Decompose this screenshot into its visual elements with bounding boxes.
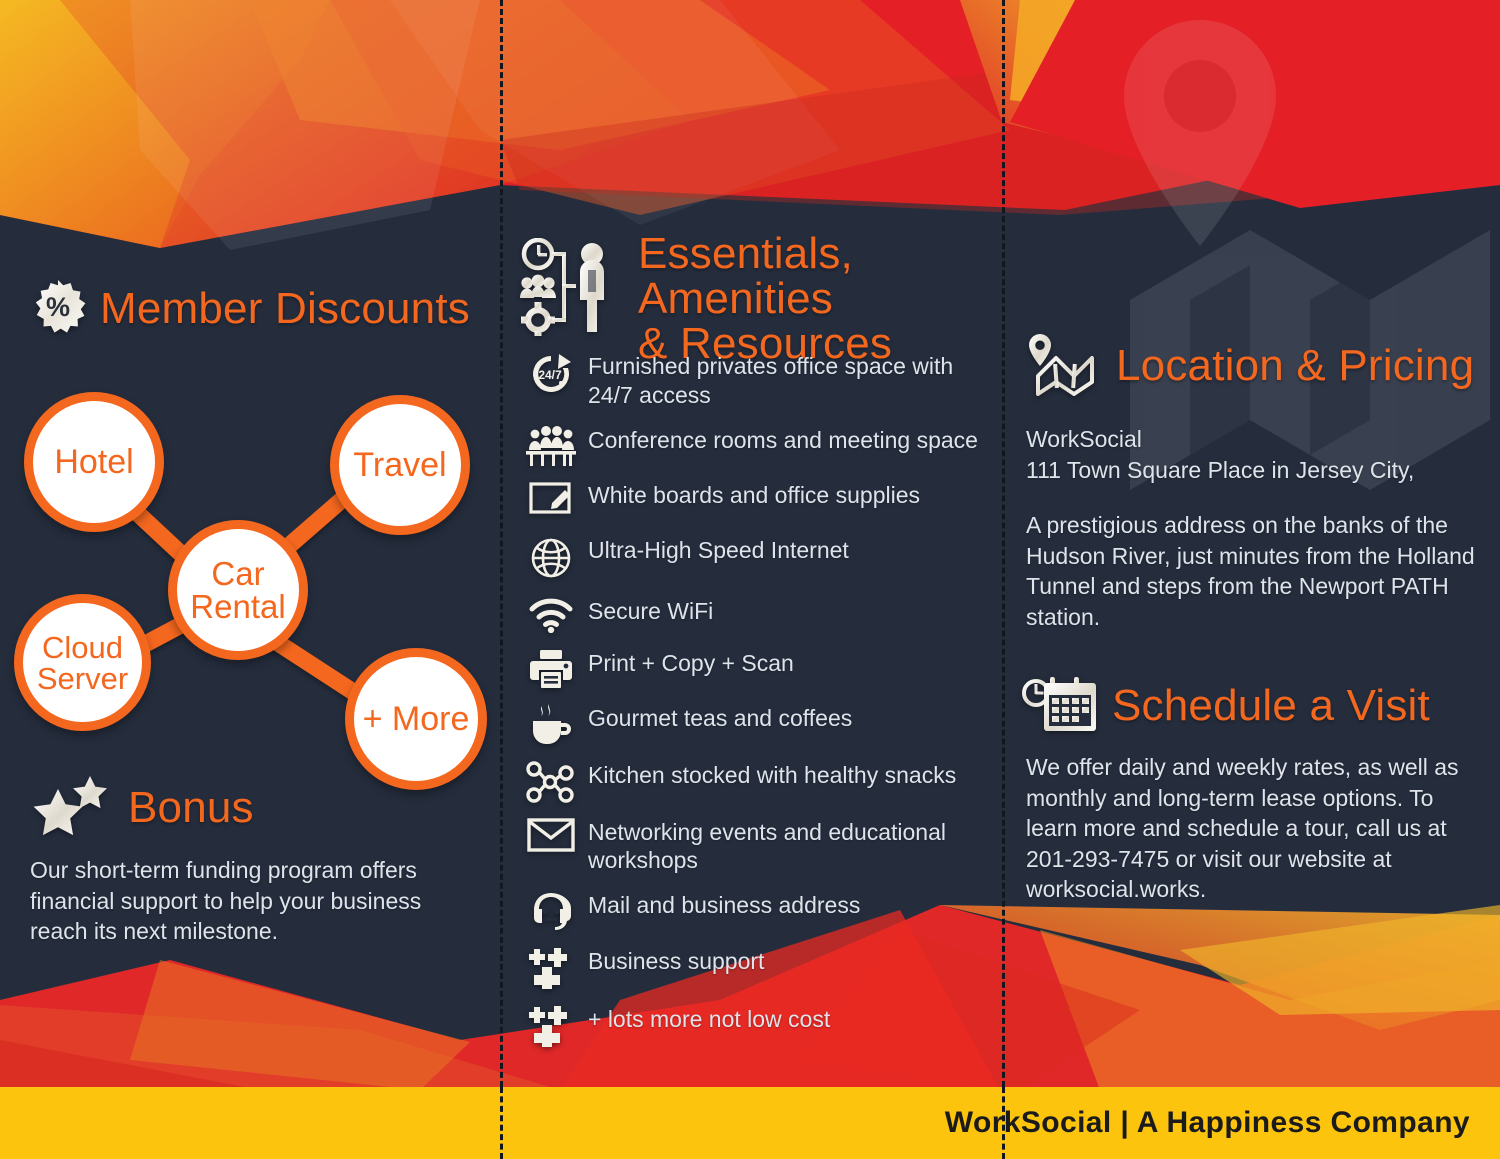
amenity-item: Gourmet teas and coffees	[522, 704, 992, 746]
amenity-label: Kitchen stocked with healthy snacks	[580, 761, 956, 790]
location-heading: Location & Pricing	[1022, 332, 1474, 401]
amenity-label: + lots more not low cost	[580, 1005, 830, 1034]
amenity-item: Networking events and educational worksh…	[522, 818, 992, 876]
wifi-icon	[522, 597, 580, 633]
amenity-item: Business support	[522, 947, 992, 989]
amenity-label: White boards and office supplies	[580, 481, 920, 510]
amenity-label: Mail and business address	[580, 891, 860, 920]
org-chart-people-icon	[518, 238, 618, 341]
bonus-heading: Bonus	[32, 775, 254, 842]
discount-node-cloud-server[interactable]: Cloud Server	[14, 594, 151, 731]
two-stars-icon	[32, 775, 114, 842]
globe-icon	[522, 536, 580, 580]
discount-node-more[interactable]: + More	[345, 648, 487, 790]
map-pin-map-icon	[1022, 332, 1102, 401]
schedule-title: Schedule a Visit	[1112, 684, 1430, 729]
amenity-label: Networking events and educational worksh…	[580, 818, 992, 876]
middle-panel: Essentials, Amenities & Resources 24/7 F…	[502, 0, 1002, 1159]
whiteboard-icon	[522, 481, 580, 519]
24-7-clock-icon: 24/7	[522, 352, 580, 396]
svg-text:%: %	[46, 292, 70, 322]
amenity-label: Furnished privates office space with 24/…	[580, 352, 992, 410]
location-body: A prestigious address on the banks of th…	[1026, 510, 1478, 632]
fold-line-right	[1002, 0, 1005, 1159]
schedule-heading: Schedule a Visit	[1022, 675, 1430, 738]
amenity-item: Secure WiFi	[522, 597, 992, 633]
calendar-clock-icon	[1022, 675, 1098, 738]
amenity-item: Conference rooms and meeting space	[522, 426, 992, 466]
brochure-page: % Member Discounts Hotel Travel Car Rent…	[0, 0, 1500, 1159]
amenities-title: Essentials, Amenities & Resources	[638, 232, 1002, 367]
left-panel: % Member Discounts Hotel Travel Car Rent…	[0, 0, 500, 1159]
plus-cluster-icon	[522, 947, 580, 989]
amenity-item: Mail and business address	[522, 891, 992, 931]
discount-node-car-rental[interactable]: Car Rental	[168, 520, 308, 660]
amenity-item: Ultra-High Speed Internet	[522, 536, 992, 580]
amenity-label: Secure WiFi	[580, 597, 713, 626]
location-title: Location & Pricing	[1116, 344, 1474, 389]
amenities-list: 24/7 Furnished privates office space wit…	[522, 352, 992, 1047]
amenity-item: Print + Copy + Scan	[522, 649, 992, 689]
schedule-body: We offer daily and weekly rates, as well…	[1026, 752, 1478, 905]
amenity-item: Kitchen stocked with healthy snacks	[522, 761, 992, 803]
amenity-label: Print + Copy + Scan	[580, 649, 794, 678]
amenity-label: Conference rooms and meeting space	[580, 426, 978, 455]
headset-support-icon	[522, 891, 580, 931]
amenity-item: + lots more not low cost	[522, 1005, 992, 1047]
plus-cluster-icon	[522, 1005, 580, 1047]
network-nodes-icon	[522, 761, 580, 803]
bonus-body: Our short-term funding program offers fi…	[30, 855, 440, 947]
meeting-table-icon	[522, 426, 580, 466]
footer-fold-left	[500, 1087, 503, 1159]
amenity-label: Ultra-High Speed Internet	[580, 536, 849, 565]
location-address: WorkSocial 111 Town Square Place in Jers…	[1026, 424, 1476, 485]
member-discounts-heading: % Member Discounts	[30, 278, 470, 341]
footer-bar: WorkSocial | A Happiness Company	[0, 1087, 1500, 1159]
amenity-label: Gourmet teas and coffees	[580, 704, 852, 733]
fold-line-left	[500, 0, 503, 1159]
footer-tagline: WorkSocial | A Happiness Company	[945, 1106, 1470, 1140]
envelope-icon	[522, 818, 580, 852]
amenities-heading: Essentials, Amenities & Resources	[518, 232, 1002, 367]
right-panel: Location & Pricing WorkSocial 111 Town S…	[1004, 0, 1500, 1159]
bonus-title: Bonus	[128, 786, 254, 831]
coffee-cup-icon	[522, 704, 580, 746]
svg-text:24/7: 24/7	[538, 368, 562, 382]
amenity-item: White boards and office supplies	[522, 481, 992, 519]
amenity-label: Business support	[580, 947, 764, 976]
discount-node-hotel[interactable]: Hotel	[24, 392, 164, 532]
printer-icon	[522, 649, 580, 689]
discount-node-travel[interactable]: Travel	[330, 395, 470, 535]
percent-badge-icon: %	[30, 278, 86, 341]
amenity-item: 24/7 Furnished privates office space wit…	[522, 352, 992, 410]
member-discounts-title: Member Discounts	[100, 287, 470, 332]
